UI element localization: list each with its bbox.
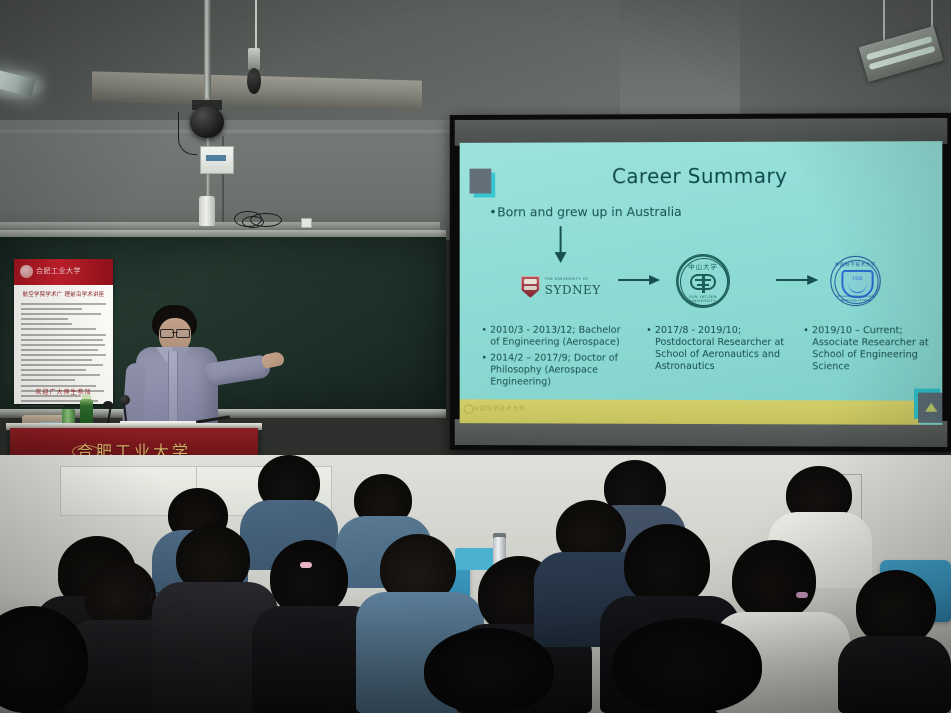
projector-mount-pipe xyxy=(204,0,211,112)
poster-header-org: 合肥工业大学 xyxy=(36,266,81,276)
list-item: 2019/10 – Current; Associate Researcher … xyxy=(803,325,942,373)
slide-column-sysu: 2017/8 - 2019/10; Postdoctoral Researche… xyxy=(646,325,791,377)
audience-body xyxy=(838,636,951,713)
podium-microphone-head xyxy=(103,401,113,409)
microphone-icon xyxy=(120,395,130,405)
hanging-speaker xyxy=(247,68,261,94)
blackboard-top-rail xyxy=(0,230,446,237)
bullet-dot-icon: • xyxy=(489,204,497,219)
audience-head xyxy=(424,628,554,713)
control-box-display xyxy=(206,155,226,161)
poster-header: 合肥工业大学 xyxy=(14,259,113,285)
cable-loop-3 xyxy=(242,216,264,228)
triangle-icon xyxy=(925,403,937,412)
slide-column-sydney: 2010/3 - 2013/12; Bachelor of Engineerin… xyxy=(481,325,630,392)
slide-column-ustc: 2019/10 – Current; Associate Researcher … xyxy=(803,325,942,377)
wall-cylinder-object xyxy=(199,196,215,226)
hair-tie xyxy=(796,592,808,598)
audience-head xyxy=(612,618,762,713)
slide-top-bullet: •Born and grew up in Australia xyxy=(489,204,681,219)
wall-outlet xyxy=(301,218,312,228)
poster-footer: 欢迎广大师生参加 xyxy=(14,387,113,396)
dome-camera-cable xyxy=(178,112,197,155)
poster-title: 航空学院学术广 理前沿学术讲座 xyxy=(22,290,105,298)
sydney-logo-topline: THE UNIVERSITY OF xyxy=(545,277,589,281)
sydney-shield-icon xyxy=(521,276,540,298)
slide-footer-bar: 中国科学技术大学 xyxy=(460,399,919,425)
down-arrow-icon xyxy=(553,226,569,264)
list-item: 2014/2 – 2017/9; Doctor of Philosophy (A… xyxy=(481,352,630,388)
slide-top-bullet-text: Born and grew up in Australia xyxy=(497,204,682,219)
light-hanger-rod xyxy=(883,0,885,40)
ustc-founding-year: 1958 xyxy=(843,276,871,281)
right-arrow-icon-1 xyxy=(618,273,660,287)
hanging-device xyxy=(248,48,260,70)
hair-tie xyxy=(300,562,312,568)
right-arrow-icon-2 xyxy=(776,273,818,287)
ustc-wave-icon xyxy=(848,284,866,293)
list-item: 2017/8 - 2019/10; Postdoctoral Researche… xyxy=(646,325,791,373)
sysu-chinese-name: 中山大学 xyxy=(677,262,729,271)
ustc-seal-icon: 中国科学技术大学 1958 University of Science and … xyxy=(830,256,880,306)
audience-head xyxy=(856,570,936,646)
footer-seal-icon xyxy=(464,404,474,414)
cable-bundle xyxy=(232,208,292,230)
audience-head xyxy=(732,540,816,620)
presenter-glasses xyxy=(160,329,190,336)
projection-screen: Career Summary •Born and grew up in Aust… xyxy=(450,113,951,452)
slide-title: Career Summary xyxy=(460,163,943,188)
university-of-sydney-logo: THE UNIVERSITY OF SYDNEY xyxy=(521,275,606,299)
wall-control-box[interactable] xyxy=(200,146,234,174)
sun-yat-sen-university-seal-icon: 中山大学 SUN YAT-SEN UNIVERSITY xyxy=(676,254,730,308)
sysu-emblem-icon xyxy=(691,272,715,294)
presentation-slide: Career Summary •Born and grew up in Aust… xyxy=(460,141,943,425)
event-poster: 合肥工业大学 航空学院学术广 理前沿学术讲座 欢迎广大师生参加 xyxy=(14,259,113,404)
ustc-chinese-name: 中国科学技术大学 xyxy=(831,262,879,268)
university-seal-icon xyxy=(20,265,33,278)
sysu-english-name: SUN YAT-SEN UNIVERSITY xyxy=(677,295,729,303)
lecture-hall-photo: 合肥工业大学 航空学院学术广 理前沿学术讲座 欢迎广大师生参加 xyxy=(0,0,951,713)
slide-footer-org: 中国科学技术大学 xyxy=(473,404,525,412)
ustc-english-name: University of Science and Technology of … xyxy=(831,294,879,302)
sydney-logo-wordmark: SYDNEY xyxy=(545,283,601,297)
hanging-cable xyxy=(255,0,257,50)
slide-decoration-bottom-right xyxy=(918,393,942,423)
audience-head xyxy=(270,540,348,616)
list-item: 2010/3 - 2013/12; Bachelor of Engineerin… xyxy=(481,325,630,349)
audience-head xyxy=(624,524,710,606)
